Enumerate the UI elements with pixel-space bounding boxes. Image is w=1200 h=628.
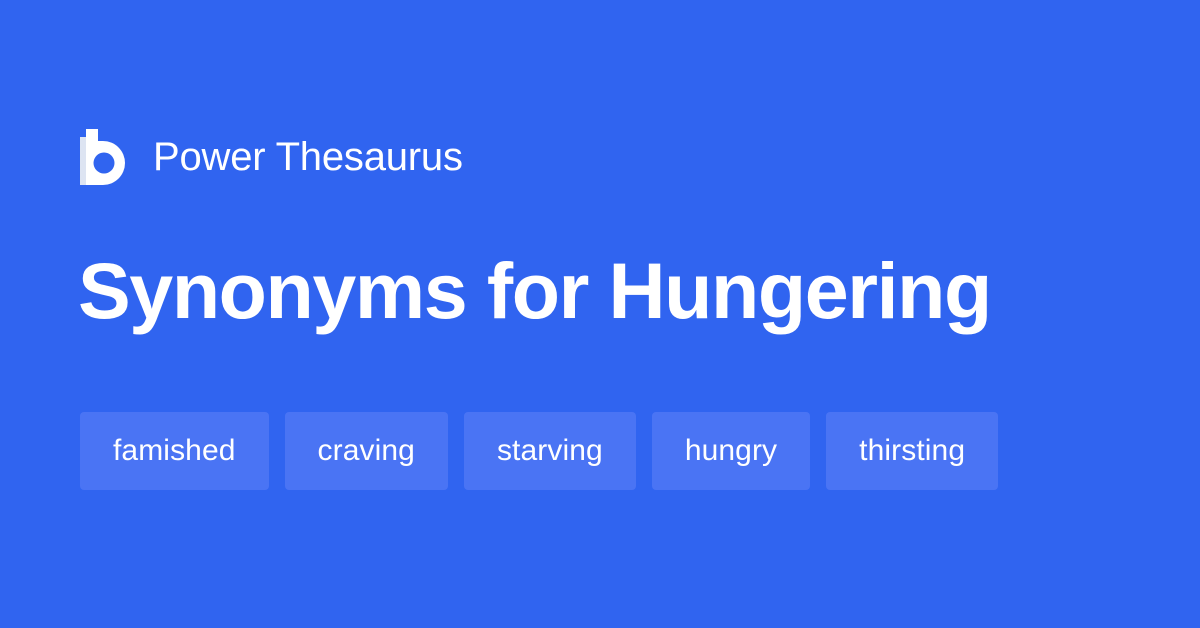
synonym-chip-label: hungry	[685, 436, 777, 466]
synonym-chip-label: famished	[113, 436, 236, 466]
synonym-chip-label: thirsting	[859, 436, 965, 466]
power-thesaurus-b-logo-icon	[80, 129, 126, 185]
synonym-chip-label: craving	[318, 436, 415, 466]
synonym-chip-list: famished craving starving hungry thirsti…	[80, 412, 998, 490]
synonym-chip-thirsting[interactable]: thirsting	[826, 412, 998, 490]
synonym-chip-craving[interactable]: craving	[285, 412, 448, 490]
synonyms-share-card: Power Thesaurus Synonyms for Hungering f…	[0, 0, 1200, 628]
brand-name: Power Thesaurus	[153, 137, 463, 177]
synonym-chip-famished[interactable]: famished	[80, 412, 269, 490]
synonym-chip-label: starving	[497, 436, 603, 466]
brand-header: Power Thesaurus	[80, 126, 463, 188]
page-title: Synonyms for Hungering	[78, 248, 1138, 333]
synonym-chip-starving[interactable]: starving	[464, 412, 636, 490]
synonym-chip-hungry[interactable]: hungry	[652, 412, 810, 490]
